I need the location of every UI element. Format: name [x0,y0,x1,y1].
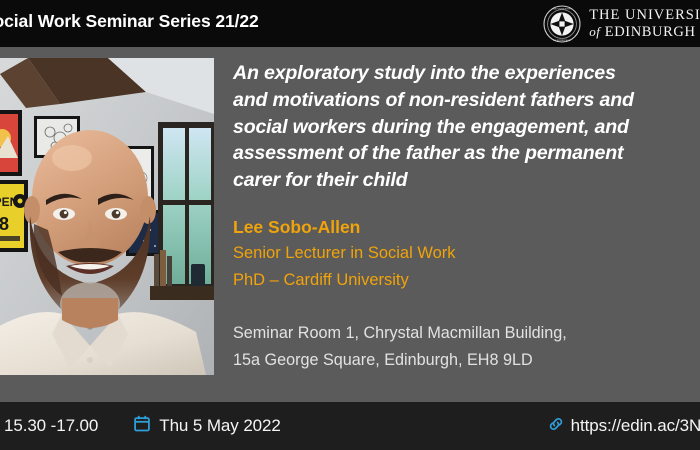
venue-line-1: Seminar Room 1, Chrystal Macmillan Build… [233,320,700,347]
speaker-photo: PEN 8 [0,58,214,375]
talk-title-line-5: carer for their child [233,167,700,194]
svg-text:OF EDINBURGH: OF EDINBURGH [553,39,571,42]
speaker-block: Lee Sobo-Allen Senior Lecturer in Social… [233,214,700,294]
talk-title-line-4: assessment of the father as the permanen… [233,140,700,167]
footer-link-group[interactable]: https://edin.ac/3NVxxxx [548,402,700,450]
registration-link[interactable]: https://edin.ac/3NVxxxx [571,416,700,436]
seminar-series-title: Social Work Seminar Series 21/22 [0,11,259,32]
wordmark-line-2: of EDINBURGH [589,25,700,40]
speaker-role: Senior Lecturer in Social Work [233,240,700,267]
header-bar: Social Work Seminar Series 21/22 THE UNI… [0,0,700,47]
footer-schedule: 15.30 -17.00 Thu 5 May 2022 [0,402,281,450]
speaker-qualification: PhD – Cardiff University [233,267,700,294]
edinburgh-crest-icon: THE UNIVERSITY OF EDINBURGH [543,5,581,43]
link-icon [548,416,564,437]
seminar-poster-slide: Social Work Seminar Series 21/22 THE UNI… [0,0,700,450]
wordmark-of: of [589,24,600,39]
content-column: An exploratory study into the experience… [233,60,700,373]
seminar-date: Thu 5 May 2022 [159,416,280,436]
talk-title-line-2: and motivations of non-resident fathers … [233,87,700,114]
venue-block: Seminar Room 1, Chrystal Macmillan Build… [233,320,700,373]
svg-text:8: 8 [0,214,9,234]
seminar-time: 15.30 -17.00 [4,416,98,436]
svg-text:THE UNIVERSITY: THE UNIVERSITY [552,7,572,10]
university-wordmark: THE UNIVERSITY of EDINBURGH [589,8,700,39]
talk-title: An exploratory study into the experience… [233,60,700,194]
speaker-name: Lee Sobo-Allen [233,214,700,240]
talk-title-line-3: social workers during the engagement, an… [233,114,700,141]
footer-bar: 15.30 -17.00 Thu 5 May 2022 https://edin [0,402,700,450]
talk-title-line-1: An exploratory study into the experience… [233,60,700,87]
calendar-icon [134,415,150,437]
wordmark-line-1: THE UNIVERSITY [589,8,700,23]
wordmark-edinburgh: EDINBURGH [605,24,696,40]
venue-line-2: 15a George Square, Edinburgh, EH8 9LD [233,347,700,374]
university-logo: THE UNIVERSITY OF EDINBURGH THE UNIVERSI… [543,2,700,45]
